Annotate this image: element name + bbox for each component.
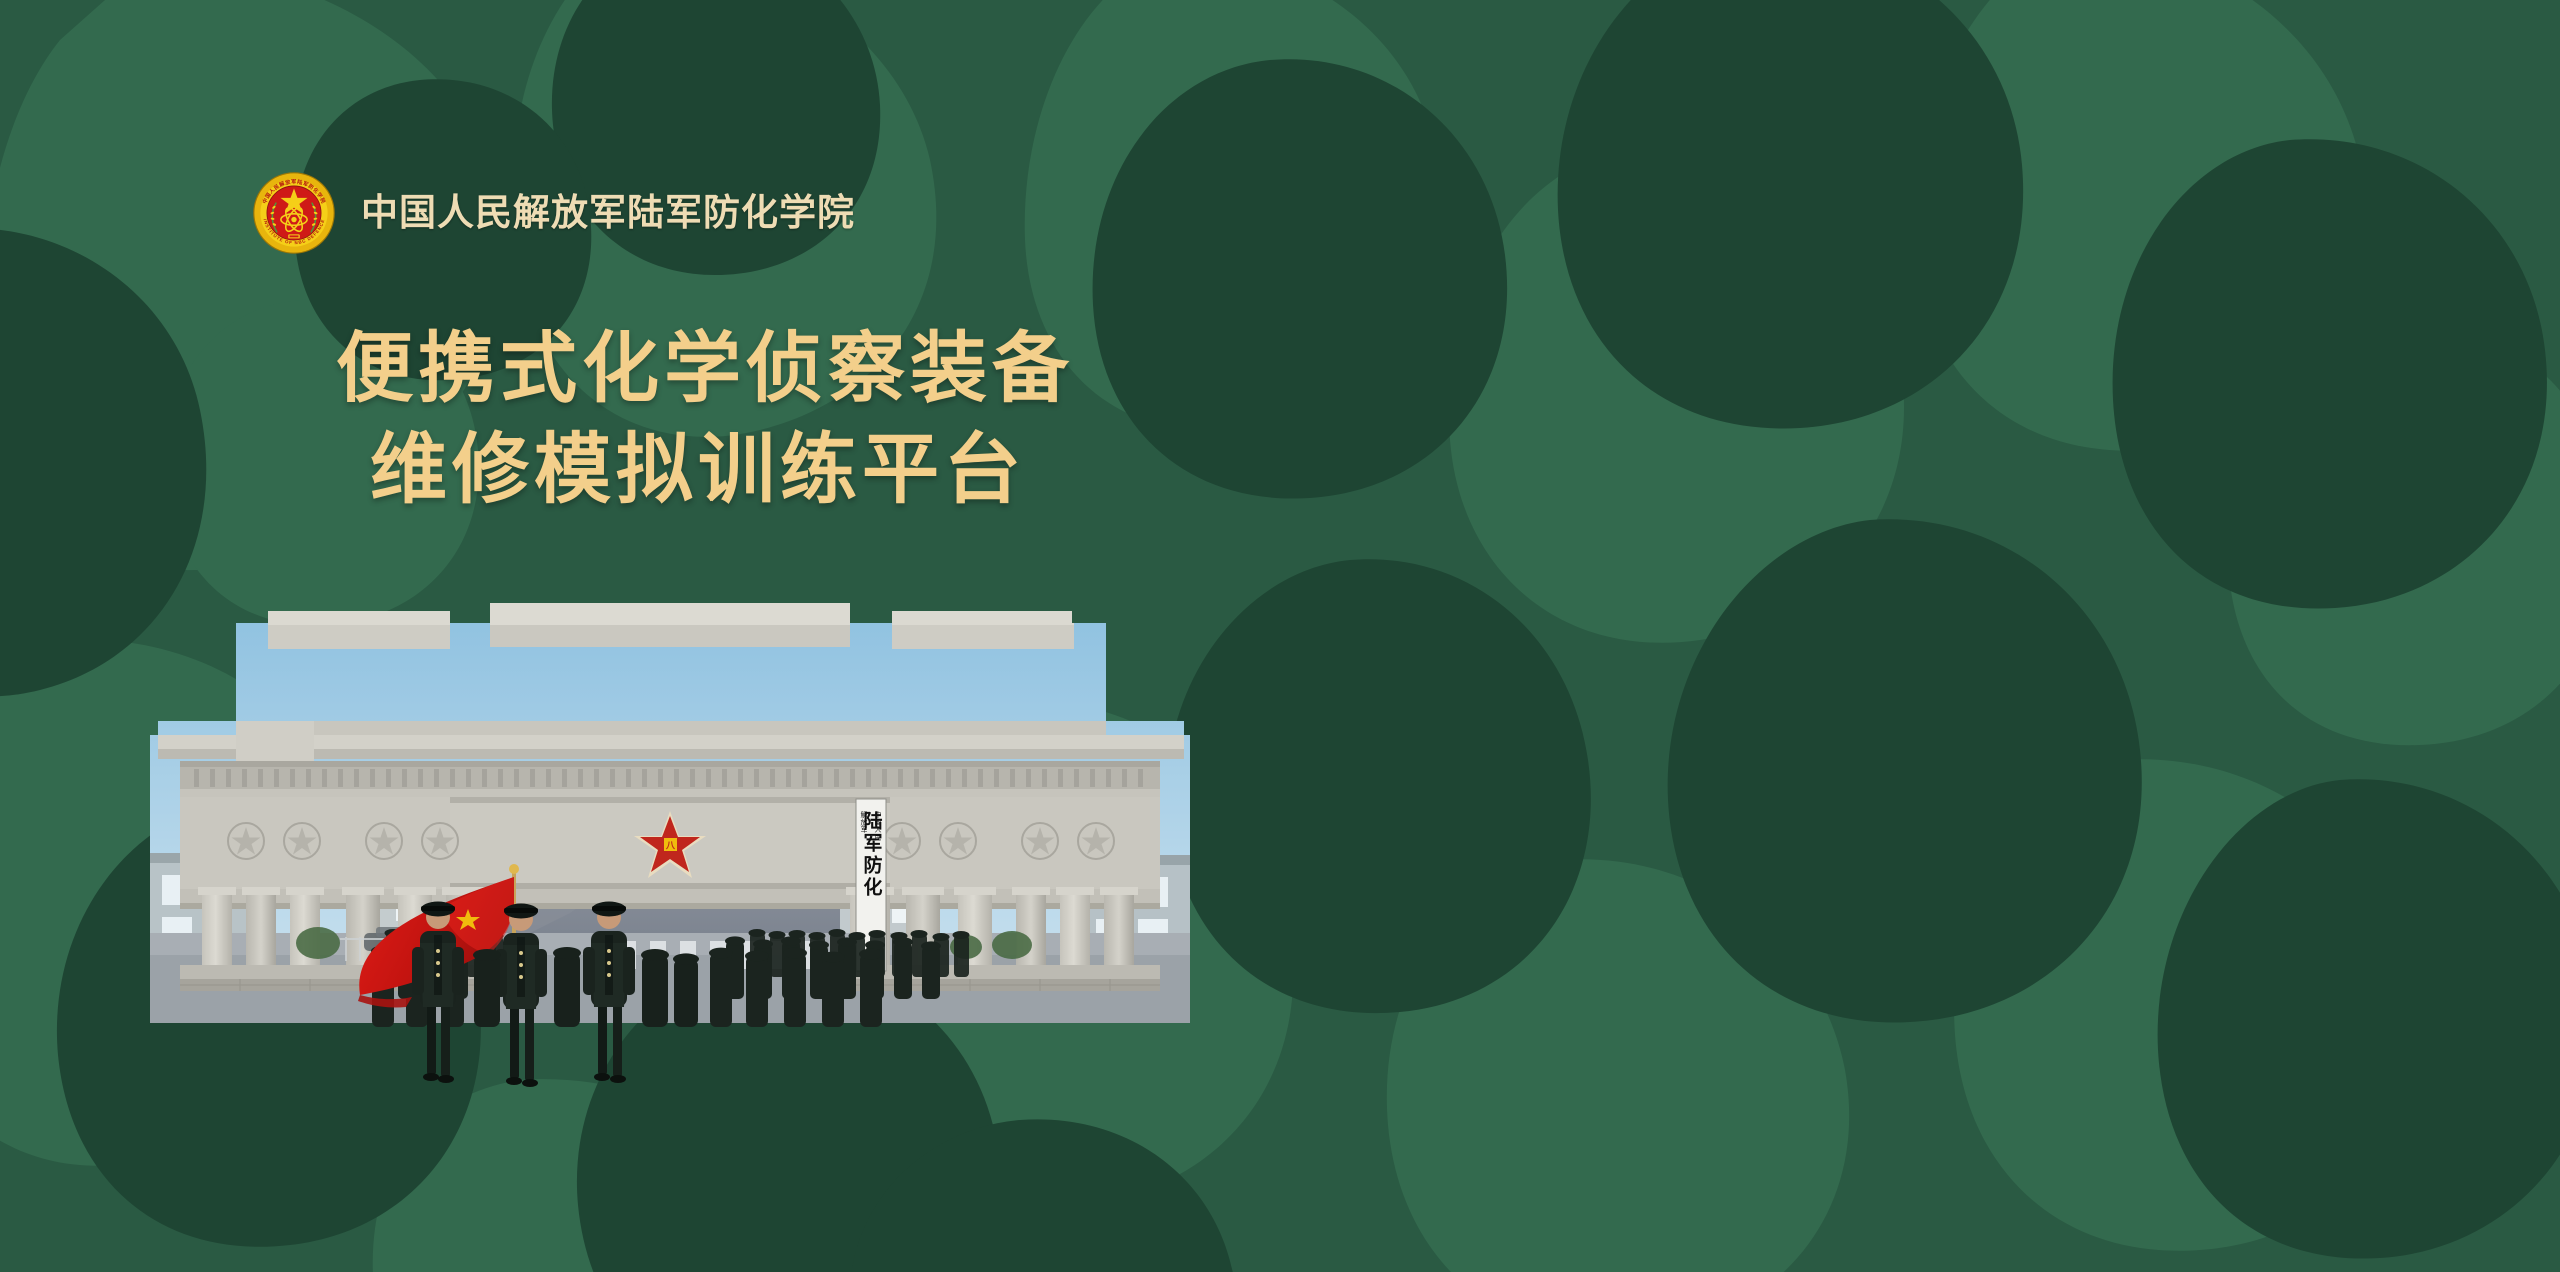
brand-row: 中国人民解放军陆军防化学院 INSTITUTE OF NBC DEFENCE <box>253 172 855 254</box>
institute-name: 中国人民解放军陆军防化学院 <box>361 195 855 232</box>
nbc-defence-institute-emblem-icon: 中国人民解放军陆军防化学院 INSTITUTE OF NBC DEFENCE <box>253 172 335 254</box>
page-title-line-1: 便携式化学侦察装备 <box>336 330 1074 409</box>
page-title-line-2: 维修模拟训练平台 <box>370 431 1074 510</box>
splash-screen: 中国人民解放军陆军防化学院 INSTITUTE OF NBC DEFENCE <box>0 0 2560 1272</box>
page-title: 便携式化学侦察装备 维修模拟训练平台 <box>336 330 1074 509</box>
academy-gate-photo: 八 <box>150 603 1190 1123</box>
svg-text:陆军防化: 陆军防化 <box>861 810 883 899</box>
svg-text:八: 八 <box>665 841 676 851</box>
